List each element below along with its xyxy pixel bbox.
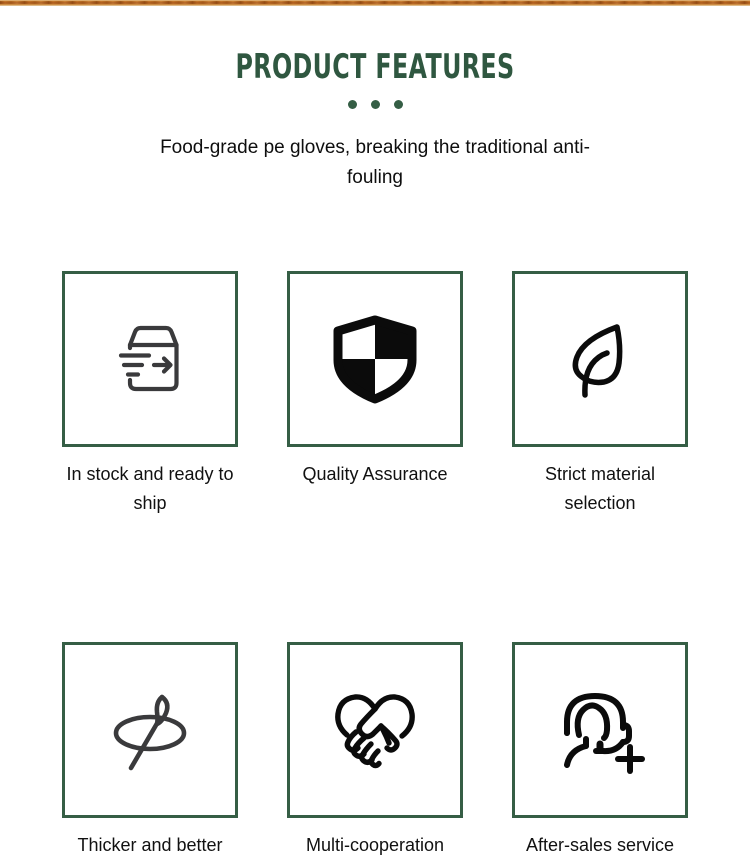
feature-icon-box [287,271,463,447]
headset-support-plus-icon [550,680,650,780]
feature-card: Quality Assurance [287,271,463,518]
handshake-heart-icon [323,678,427,782]
feature-caption: After-sales service [512,818,688,860]
feature-icon-box [62,642,238,818]
shield-check-icon [329,313,421,405]
feature-grid: In stock and ready to ship [62,271,688,860]
feature-caption: Strict material selection [512,447,688,518]
feature-icon-box [287,642,463,818]
feature-card: In stock and ready to ship [62,271,238,518]
feature-icon-box [512,642,688,818]
feature-icon-box [512,271,688,447]
feature-card: After-sales service [512,642,688,860]
needle-thickness-icon [100,680,200,780]
feature-caption: Quality Assurance [287,447,463,489]
page-title: PRODUCT FEATURES [113,6,638,86]
feature-caption: Thicker and better [62,818,238,860]
feature-card: Multi-cooperation [287,642,463,860]
feature-caption: Multi-cooperation [287,818,463,860]
feature-card: Strict material selection [512,271,688,518]
feature-card: Thicker and better [62,642,238,860]
separator-dot [348,100,357,109]
separator-dot [371,100,380,109]
title-dot-separator [0,100,750,109]
shipping-box-icon [102,311,198,407]
page-header: PRODUCT FEATURES Food-grade pe gloves, b… [0,6,750,193]
leaf-icon [554,313,646,405]
feature-icon-box [62,271,238,447]
page-subtitle: Food-grade pe gloves, breaking the tradi… [160,109,590,193]
separator-dot [394,100,403,109]
feature-caption: In stock and ready to ship [62,447,238,518]
